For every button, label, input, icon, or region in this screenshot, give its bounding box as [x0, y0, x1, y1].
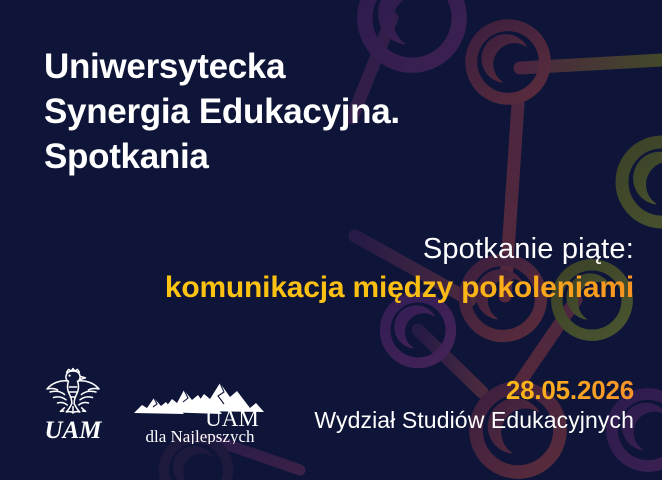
poster-canvas: Uniwersytecka Synergia Edukacyjna. Spotk…	[0, 0, 662, 480]
uam-dla-najlepszych-logo: UAM dla Najlepszych	[132, 378, 272, 444]
event-date: 28.05.2026	[314, 375, 634, 406]
subtitle-topic: komunikacja między pokoleniami	[165, 271, 634, 306]
logo-row: UAM UAM dla	[40, 366, 272, 444]
event-info: 28.05.2026 Wydział Studiów Edukacyjnych	[314, 375, 634, 435]
page-title: Uniwersytecka Synergia Edukacyjna. Spotk…	[44, 44, 604, 179]
title-line-1: Uniwersytecka	[44, 44, 604, 89]
uam-crest-logo: UAM	[40, 366, 106, 444]
title-line-2: Synergia Edukacyjna.	[44, 89, 604, 134]
subtitle-kicker: Spotkanie piąte:	[165, 232, 634, 267]
title-line-3: Spotkania	[44, 134, 604, 179]
najlepszych-tagline: dla Najlepszych	[145, 427, 255, 444]
uam-crest-wordmark: UAM	[45, 417, 103, 444]
subtitle: Spotkanie piąte: komunikacja między poko…	[165, 232, 634, 305]
event-faculty: Wydział Studiów Edukacyjnych	[314, 407, 634, 435]
